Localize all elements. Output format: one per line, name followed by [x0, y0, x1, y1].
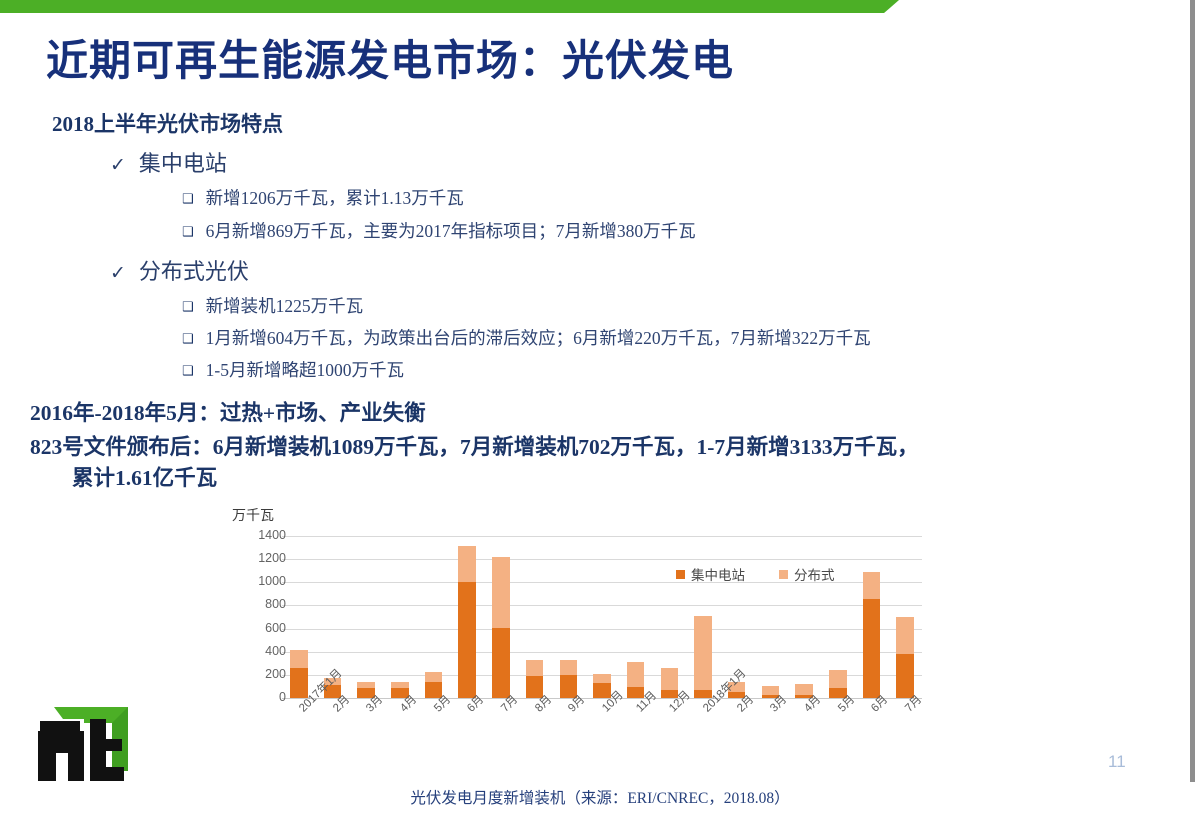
check-icon: ✓	[110, 154, 126, 176]
chart-bar-stack	[863, 536, 881, 698]
list-item-text: 新增1206万千瓦，累计1.13万千瓦	[206, 185, 464, 210]
legend-item-centralized: 集中电站	[676, 564, 745, 584]
chart-bar-stack	[762, 536, 780, 698]
check-icon: ✓	[110, 262, 126, 284]
legend-label-centralized: 集中电站	[691, 564, 745, 584]
legend-item-distributed: 分布式	[779, 564, 835, 584]
chart-bar[interactable]	[619, 536, 653, 698]
list-item: ❑ 新增装机1225万千瓦	[182, 293, 363, 318]
chart-plot-area	[282, 536, 922, 698]
chart-bar[interactable]	[888, 536, 922, 698]
conclusion-line-2: 823号文件颁布后：6月新增装机1089万千瓦，7月新增装机702万千瓦，1-7…	[30, 430, 919, 461]
top-green-accent-bar	[0, 0, 880, 13]
page-title: 近期可再生能源发电市场：光伏发电	[46, 27, 734, 88]
chart-bar-segment-distributed	[863, 572, 881, 599]
list-item-text: 新增装机1225万千瓦	[206, 293, 364, 318]
chart-bar-stack	[795, 536, 813, 698]
legend-label-distributed: 分布式	[794, 564, 835, 584]
chart-bar-segment-distributed	[526, 660, 544, 676]
square-bullet-icon: ❑	[182, 332, 194, 347]
chart-bar-stack	[391, 536, 409, 698]
list-item: ❑ 1月新增604万千瓦，为政策出台后的滞后效应；6月新增220万千瓦，7月新增…	[182, 325, 871, 350]
chart-bar-stack	[492, 536, 510, 698]
chart-bar-segment-distributed	[694, 616, 712, 690]
square-bullet-icon: ❑	[182, 192, 194, 207]
chart-bar[interactable]	[585, 536, 619, 698]
chart-bar-segment-distributed	[661, 668, 679, 690]
chart-bar[interactable]	[282, 536, 316, 698]
chart-bar[interactable]	[551, 536, 585, 698]
chart-y-tick-label: 1400	[240, 529, 286, 542]
chart-bar-stack	[290, 536, 308, 698]
chart-bar-segment-centralized	[458, 582, 476, 698]
chart-y-tick-label: 200	[240, 668, 286, 681]
chart-bar-stack	[593, 536, 611, 698]
bullet-group-1: ✓ 集中电站	[110, 146, 227, 178]
top-green-accent-tip	[865, 0, 899, 13]
chart-unit-label: 万千瓦	[232, 505, 274, 525]
chart-bar[interactable]	[653, 536, 687, 698]
chart-bar-stack	[627, 536, 645, 698]
list-item: ❑ 1-5月新增略超1000万千瓦	[182, 357, 404, 382]
chart-bar[interactable]	[417, 536, 451, 698]
square-bullet-icon: ❑	[182, 300, 194, 315]
list-item-text: 6月新增869万千瓦，主要为2017年指标项目；7月新增380万千瓦	[206, 218, 696, 243]
chart-bar-segment-distributed	[492, 557, 510, 628]
chart-bar-segment-distributed	[896, 617, 914, 654]
chart-bar[interactable]	[349, 536, 383, 698]
legend-swatch-distributed	[779, 570, 788, 579]
chart-bar-segment-centralized	[863, 599, 881, 699]
chart-y-tick-label: 400	[240, 645, 286, 658]
chart-bar-stack	[526, 536, 544, 698]
chart-bar-stack	[829, 536, 847, 698]
chart-y-tick-label: 800	[240, 598, 286, 611]
chart-bar-stack	[560, 536, 578, 698]
list-item: ❑ 6月新增869万千瓦，主要为2017年指标项目；7月新增380万千瓦	[182, 218, 696, 243]
page-number: 11	[1108, 752, 1126, 772]
monthly-installation-chart: 万千瓦 集中电站 分布式 140012001000800600400200020…	[228, 505, 928, 773]
chart-bar-segment-centralized	[492, 628, 510, 698]
chart-y-tick-label: 1200	[240, 552, 286, 565]
chart-bar-stack	[458, 536, 476, 698]
square-bullet-icon: ❑	[182, 364, 194, 379]
list-item: ❑ 新增1206万千瓦，累计1.13万千瓦	[182, 185, 464, 210]
chart-legend: 集中电站 分布式	[676, 564, 835, 584]
bullet-group-1-label: 集中电站	[139, 146, 227, 178]
legend-swatch-centralized	[676, 570, 685, 579]
list-item-text: 1-5月新增略超1000万千瓦	[206, 357, 404, 382]
chart-bar-segment-distributed	[458, 546, 476, 582]
slide-canvas: 近期可再生能源发电市场：光伏发电 2018上半年光伏市场特点 ✓ 集中电站 ❑ …	[0, 0, 1200, 814]
chart-bar-stack	[896, 536, 914, 698]
chart-bar-stack	[694, 536, 712, 698]
chart-bar-segment-centralized	[896, 654, 914, 698]
chart-bar[interactable]	[518, 536, 552, 698]
chart-bar[interactable]	[686, 536, 720, 698]
chart-caption: 光伏发电月度新增装机（来源：ERI/CNREC，2018.08）	[0, 786, 1200, 808]
chart-bar-stack	[661, 536, 679, 698]
chart-y-tick-label: 1000	[240, 575, 286, 588]
chart-bar-segment-distributed	[425, 672, 443, 682]
chart-bar[interactable]	[855, 536, 889, 698]
chart-bar[interactable]	[383, 536, 417, 698]
chart-bar-segment-distributed	[560, 660, 578, 674]
chart-bar-stack	[425, 536, 443, 698]
chart-bar[interactable]	[450, 536, 484, 698]
chart-bar[interactable]	[821, 536, 855, 698]
section-heading: 2018上半年光伏市场特点	[52, 108, 283, 138]
right-edge-rule	[1190, 0, 1195, 782]
chart-bar-segment-distributed	[829, 670, 847, 687]
list-item-text: 1月新增604万千瓦，为政策出台后的滞后效应；6月新增220万千瓦，7月新增32…	[206, 325, 871, 350]
chart-y-tick-label: 0	[240, 691, 286, 704]
chart-bar-segment-distributed	[290, 650, 308, 668]
conclusion-line-3: 累计1.61亿千瓦	[72, 461, 217, 492]
chart-bar[interactable]	[787, 536, 821, 698]
chart-bar[interactable]	[484, 536, 518, 698]
organization-logo	[36, 693, 146, 785]
chart-bar[interactable]	[754, 536, 788, 698]
chart-bar-segment-distributed	[627, 662, 645, 687]
chart-bar-stack	[357, 536, 375, 698]
chart-y-tick-label: 600	[240, 622, 286, 635]
bullet-group-2-label: 分布式光伏	[139, 254, 249, 286]
conclusion-line-1: 2016年-2018年5月：过热+市场、产业失衡	[30, 396, 426, 427]
chart-bar-segment-distributed	[593, 674, 611, 683]
bullet-group-2: ✓ 分布式光伏	[110, 254, 249, 286]
square-bullet-icon: ❑	[182, 225, 194, 240]
